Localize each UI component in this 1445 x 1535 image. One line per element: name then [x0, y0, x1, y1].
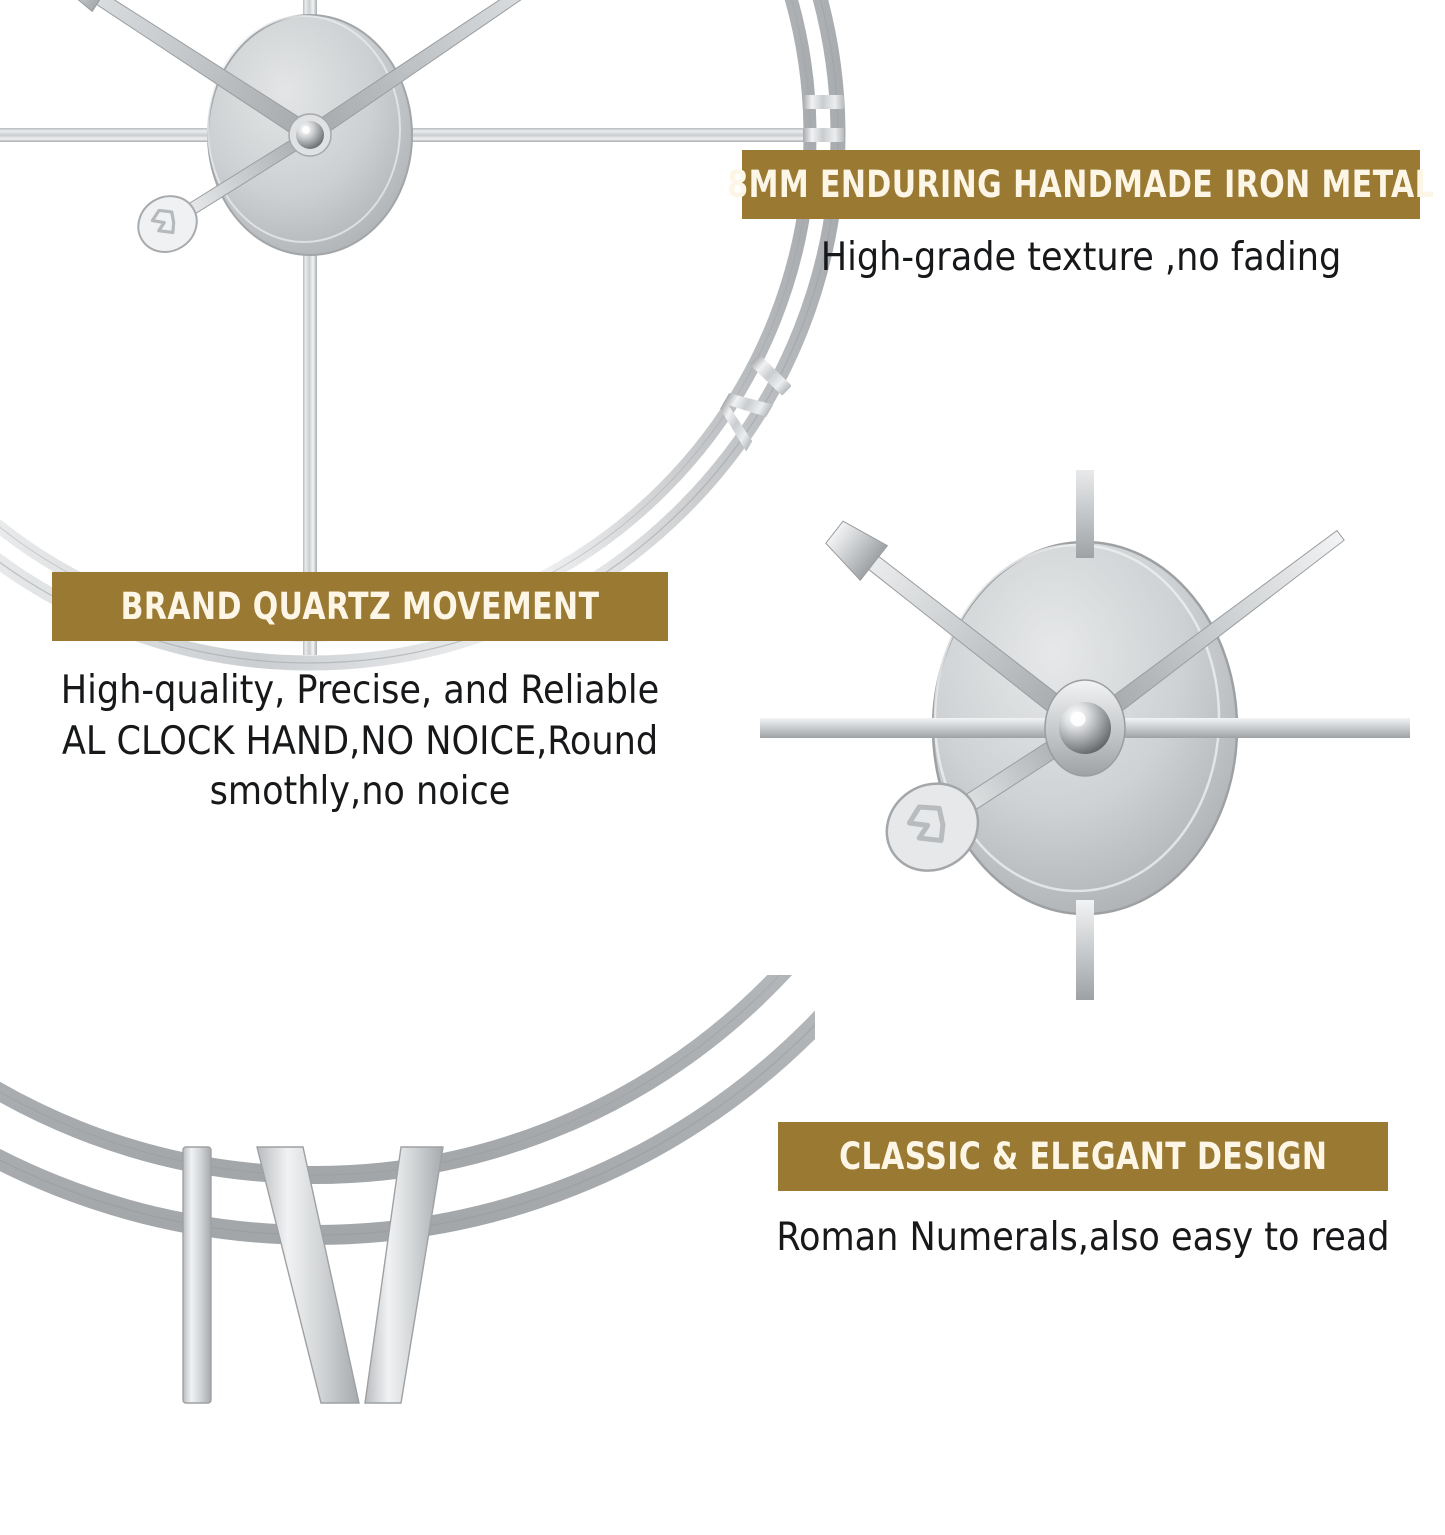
photo-clock-hub-macro	[760, 470, 1410, 1000]
photo-roman-numeral-closeup	[0, 975, 815, 1535]
feature-banner-quartz-movement: BRAND QUARTZ MOVEMENT	[52, 572, 668, 641]
feature-subtitle-classic-design: Roman Numerals,also easy to read	[740, 1213, 1426, 1264]
feature-banner-label: CLASSIC & ELEGANT DESIGN	[839, 1138, 1327, 1175]
subtitle-line: High-quality, Precise, and Reliable	[30, 666, 690, 717]
infographic-page: 8MM ENDURING HANDMADE IRON METAL High-gr…	[0, 0, 1445, 1446]
subtitle-line: smothly,no noice	[30, 767, 690, 818]
feature-banner-label: 8MM ENDURING HANDMADE IRON METAL	[728, 166, 1435, 203]
subtitle-line: AL CLOCK HAND,NO NOICE,Round	[30, 717, 690, 768]
feature-subtitle-iron-metal: High-grade texture ,no fading	[742, 233, 1420, 284]
feature-subtitle-quartz-movement: High-quality, Precise, and Reliable AL C…	[30, 666, 690, 818]
feature-banner-label: BRAND QUARTZ MOVEMENT	[121, 588, 600, 625]
feature-banner-iron-metal: 8MM ENDURING HANDMADE IRON METAL	[742, 150, 1420, 219]
feature-banner-classic-design: CLASSIC & ELEGANT DESIGN	[778, 1122, 1388, 1191]
